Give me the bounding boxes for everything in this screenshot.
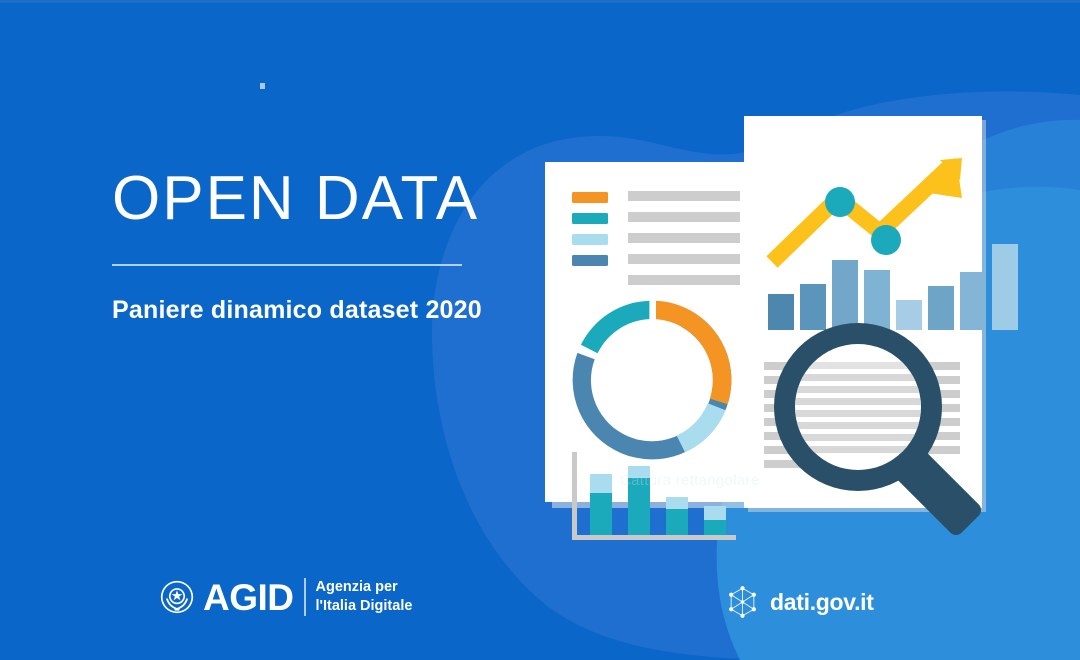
dati-gov-it-logo[interactable]: dati.gov.it <box>726 585 874 619</box>
agid-tagline: Agenzia per l'Italia Digitale <box>316 578 413 615</box>
line-marker-1 <box>825 187 855 217</box>
poster-canvas: OPEN DATA Paniere dinamico dataset 2020 <box>0 0 1080 660</box>
legend-swatch-steelblue <box>572 255 608 266</box>
legend-swatch-lightblue <box>572 234 608 245</box>
agid-divider <box>304 578 306 616</box>
legend-swatch-orange <box>572 192 608 203</box>
line-marker-2 <box>871 225 901 255</box>
stray-pixel-artifact <box>260 83 265 89</box>
agid-tagline-line2: l'Italia Digitale <box>316 597 413 616</box>
top-edge-strip <box>0 0 1080 3</box>
italian-republic-emblem <box>160 580 194 614</box>
legend-swatch-teal <box>572 213 608 224</box>
dati-gov-it-wordmark: dati.gov.it <box>770 589 874 616</box>
report-document-back <box>545 162 765 540</box>
agid-wordmark: AGID <box>203 579 294 616</box>
open-data-documents-illustration <box>400 80 1080 580</box>
hexagon-network-icon <box>726 585 759 619</box>
agid-tagline-line1: Agenzia per <box>316 578 413 597</box>
agid-logo[interactable]: AGID Agenzia per l'Italia Digitale <box>160 578 412 616</box>
